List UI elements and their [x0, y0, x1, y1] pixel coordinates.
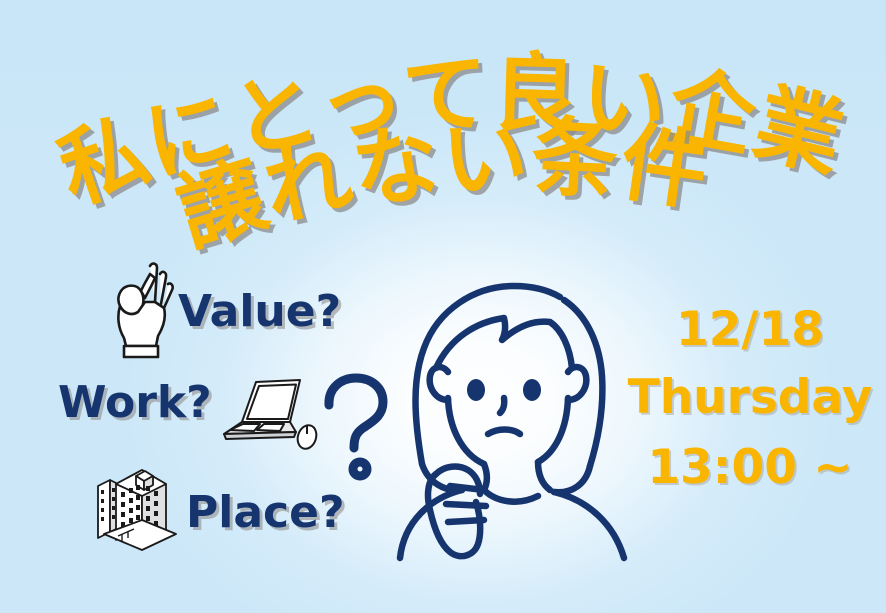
office-building-icon: [88, 458, 188, 558]
question-mark-icon: [316, 372, 396, 482]
title-line1-shadow: 私にとって良い企業: [51, 47, 858, 227]
ok-hand-icon: [104, 258, 178, 362]
title-arc-svg: 私にとって良い企業 私にとって良い企業 譲れない条件 譲れない条件: [0, 22, 886, 252]
schedule-time: 13:00 ~: [620, 440, 880, 495]
keyword-place: Place?: [186, 487, 344, 538]
keyword-work: Work?: [58, 377, 212, 428]
title-line2: 譲れない条件: [166, 107, 715, 265]
keyword-value: Value?: [178, 286, 341, 337]
poster-canvas: 私にとって良い企業 私にとって良い企業 譲れない条件 譲れない条件: [0, 0, 886, 613]
title-line1: 私にとって良い企業: [47, 43, 854, 223]
title-line2-shadow: 譲れない条件: [170, 111, 719, 269]
thinking-woman-icon: [392, 268, 652, 568]
poster-title: 私にとって良い企業 私にとって良い企業 譲れない条件 譲れない条件: [0, 22, 886, 252]
schedule-date: 12/18: [620, 302, 880, 357]
schedule-day: Thursday: [620, 370, 880, 425]
laptop-icon: [214, 374, 318, 452]
top-gradient-overlay: [0, 0, 886, 300]
